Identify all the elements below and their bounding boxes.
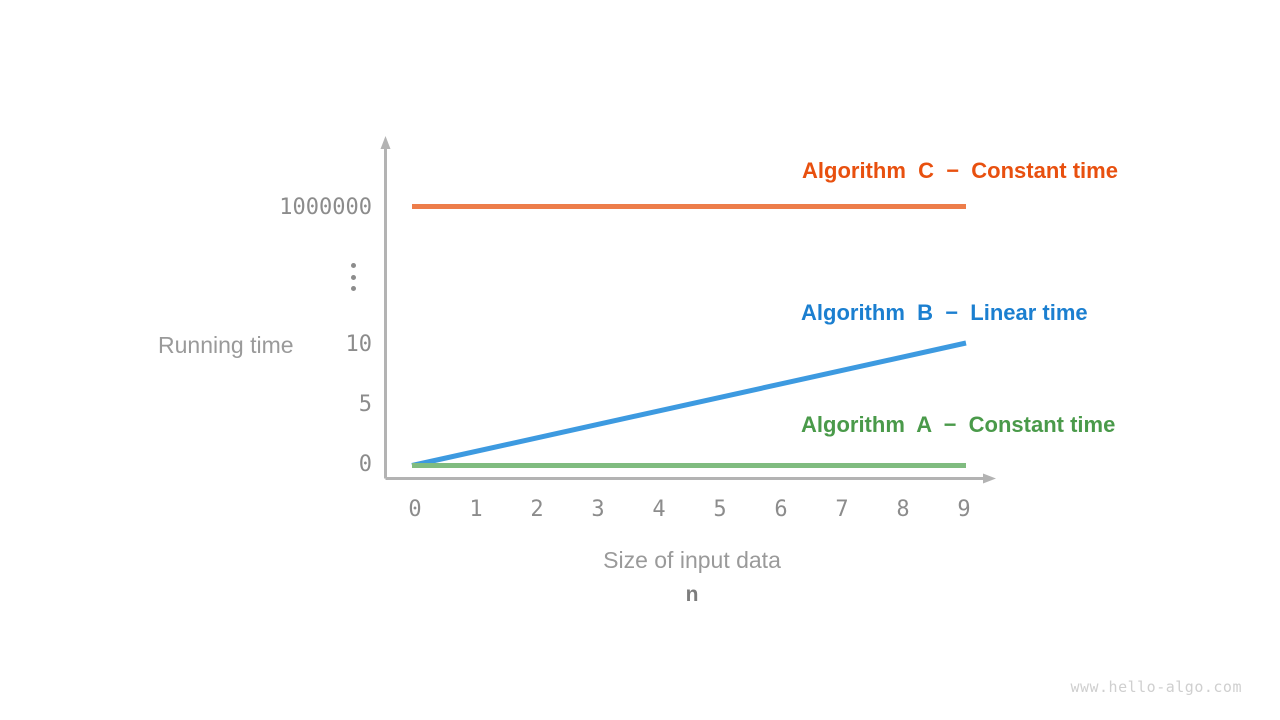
y-axis-arrowhead [381, 136, 391, 149]
chart-canvas [0, 0, 1280, 720]
complexity-chart: 1000000 10 5 0 Running time 0 1 2 3 4 5 … [0, 0, 1280, 720]
x-tick-label-9: 9 [944, 497, 984, 522]
y-tick-label-5: 5 [132, 392, 372, 417]
x-tick-label-8: 8 [883, 497, 923, 522]
y-tick-label-0: 0 [132, 452, 372, 477]
y-axis-title: Running time [158, 332, 298, 359]
x-axis-title-variable: n [492, 583, 892, 607]
x-tick-label-7: 7 [822, 497, 862, 522]
x-tick-label-1: 1 [456, 497, 496, 522]
watermark-url: www.hello-algo.com [1070, 678, 1242, 696]
x-tick-label-2: 2 [517, 497, 557, 522]
x-tick-label-6: 6 [761, 497, 801, 522]
x-axis-arrowhead [983, 474, 996, 484]
x-axis [386, 474, 997, 484]
x-tick-label-5: 5 [700, 497, 740, 522]
legend-item-algorithm-a: Algorithm A − Constant time [801, 412, 1115, 438]
x-tick-label-4: 4 [639, 497, 679, 522]
x-axis-title: Size of input data [492, 547, 892, 574]
x-tick-label-0: 0 [395, 497, 435, 522]
series-line-algorithm-b [412, 343, 966, 466]
legend-item-algorithm-b: Algorithm B − Linear time [801, 300, 1088, 326]
legend-item-algorithm-c: Algorithm C − Constant time [802, 158, 1118, 184]
y-tick-label-1000000: 1000000 [132, 195, 372, 220]
x-tick-label-3: 3 [578, 497, 618, 522]
y-axis-break-ellipsis-icon [351, 263, 356, 291]
y-axis [381, 136, 391, 479]
